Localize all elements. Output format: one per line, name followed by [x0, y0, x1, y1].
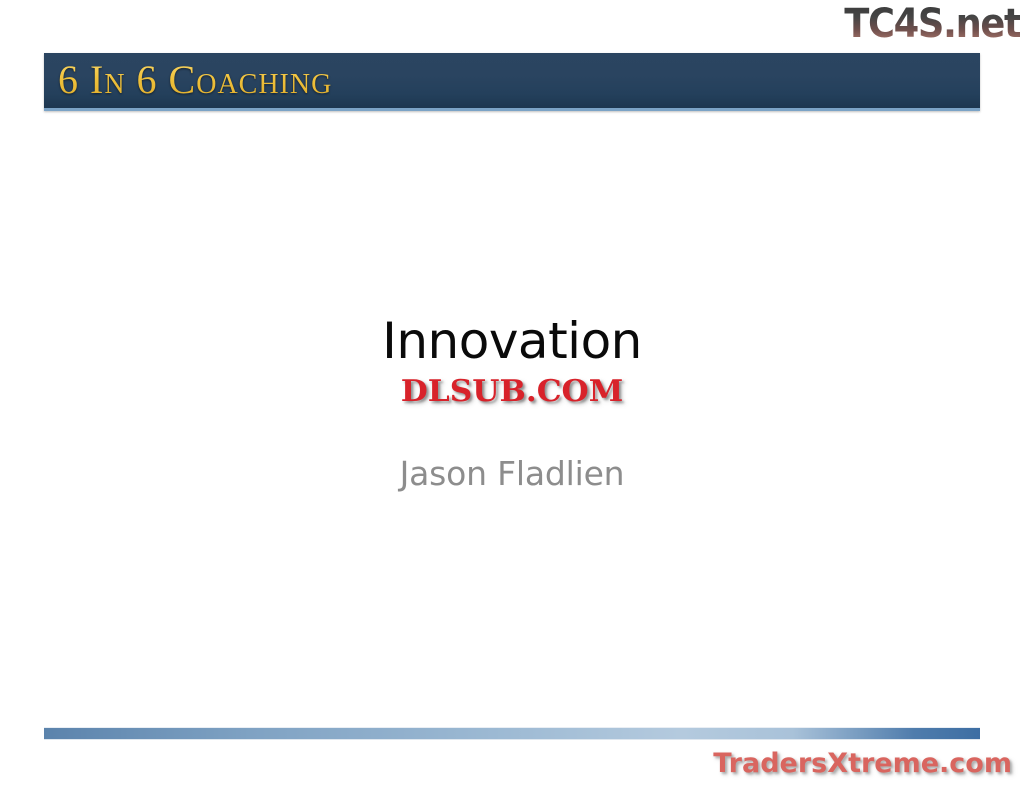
slide-subtitle: Jason Fladlien — [0, 453, 1024, 495]
header-banner: 6 In 6 Coaching — [44, 53, 980, 111]
header-banner-title: 6 In 6 Coaching — [58, 60, 332, 100]
dlsub-watermark: DLSUB.COM — [399, 373, 625, 411]
tc4s-watermark: TC4S.net — [844, 2, 1020, 46]
presentation-slide: TC4S.net 6 In 6 Coaching Innovation DLSU… — [0, 0, 1024, 791]
tradersxtreme-watermark: TradersXtreme.com — [713, 748, 1012, 780]
slide-title: Innovation — [0, 312, 1024, 370]
footer-decorative-bar — [44, 727, 980, 740]
dlsub-watermark-text: DLSUB.COM — [401, 375, 624, 409]
